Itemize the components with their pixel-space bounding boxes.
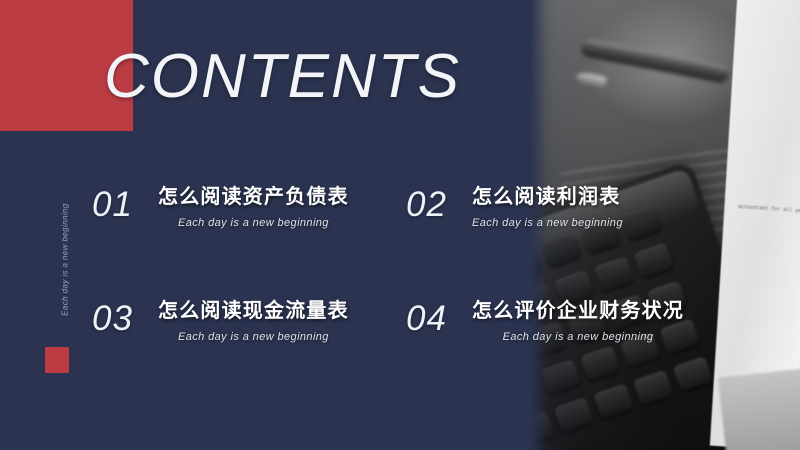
contents-item-04[interactable]: 04 怎么评价企业财务状况 Each day is a new beginnin… [406,296,684,343]
item-subtitle: Each day is a new beginning [158,217,349,229]
item-number: 02 [406,182,472,228]
item-subtitle: Each day is a new beginning [472,217,623,229]
contents-item-02[interactable]: 02 怎么阅读利润表 Each day is a new beginning [406,182,623,229]
item-title: 怎么评价企业财务状况 [472,298,684,324]
item-number: 04 [406,296,472,342]
item-title: 怎么阅读资产负债表 [158,184,349,210]
contents-list: 01 怎么阅读资产负债表 Each day is a new beginning… [0,0,800,450]
item-subtitle: Each day is a new beginning [472,331,684,343]
item-title: 怎么阅读现金流量表 [158,298,349,324]
item-text-group: 怎么评价企业财务状况 Each day is a new beginning [472,296,684,343]
item-subtitle: Each day is a new beginning [158,331,349,343]
item-title: 怎么阅读利润表 [472,184,623,210]
contents-item-03[interactable]: 03 怎么阅读现金流量表 Each day is a new beginning [92,296,349,343]
item-text-group: 怎么阅读现金流量表 Each day is a new beginning [158,296,349,343]
item-number: 03 [92,296,158,342]
contents-item-01[interactable]: 01 怎么阅读资产负债表 Each day is a new beginning [92,182,349,229]
item-text-group: 怎么阅读利润表 Each day is a new beginning [472,182,623,229]
contents-slide: accountant for all year 373 967804 02929… [0,0,800,450]
item-number: 01 [92,182,158,228]
item-text-group: 怎么阅读资产负债表 Each day is a new beginning [158,182,349,229]
